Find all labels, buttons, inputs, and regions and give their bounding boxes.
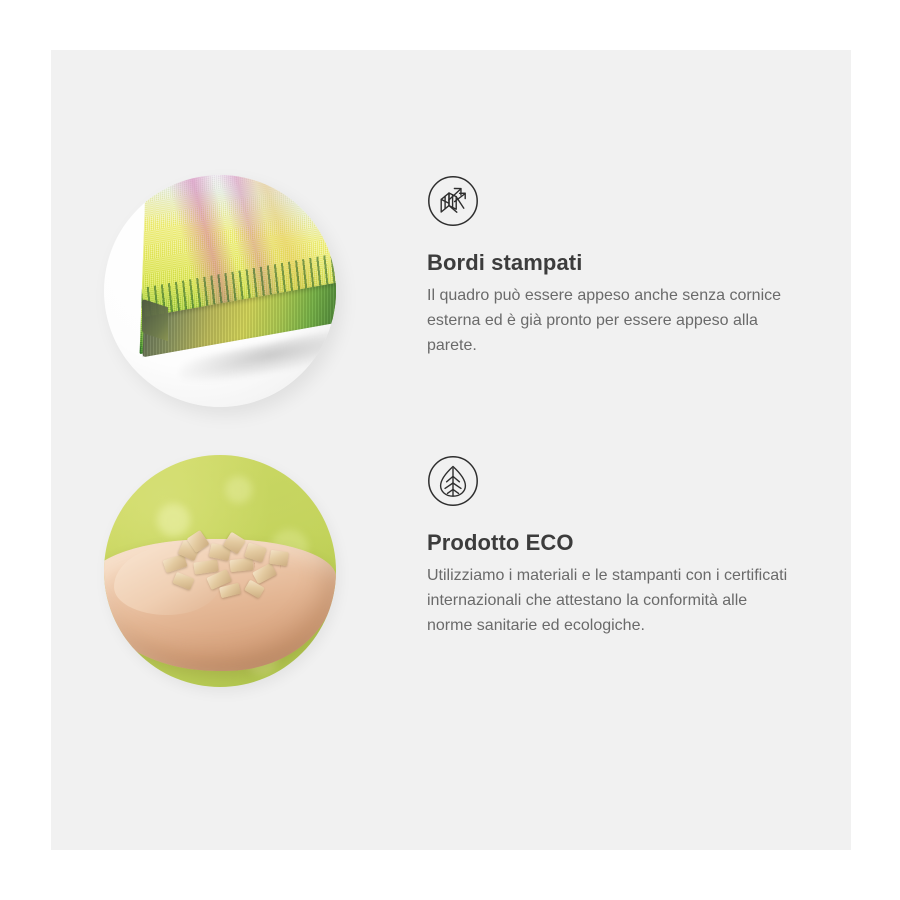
printed-edges-icon (427, 175, 479, 227)
wood-chips-pile (160, 531, 296, 601)
feature-row-eco-product: Prodotto ECO Utilizziamo i materiali e l… (51, 455, 851, 745)
feature-text-printed-edges: Bordi stampati Il quadro può essere appe… (427, 175, 819, 358)
canvas-block (146, 175, 336, 381)
product-feature-page: Bordi stampati Il quadro può essere appe… (0, 0, 900, 900)
feature-row-printed-edges: Bordi stampati Il quadro può essere appe… (51, 175, 851, 460)
canvas-photo-circle (104, 175, 336, 407)
feature-title: Bordi stampati (427, 249, 819, 277)
eco-photo-circle (104, 455, 336, 687)
wood-chips-in-hands-photo (104, 455, 336, 687)
canvas-wrapped-edge-photo (104, 175, 336, 407)
content-panel: Bordi stampati Il quadro può essere appe… (51, 50, 851, 850)
feature-title: Prodotto ECO (427, 529, 819, 557)
leaf-icon (427, 455, 479, 507)
feature-body: Utilizziamo i materiali e le stampanti c… (427, 563, 789, 638)
feature-body: Il quadro può essere appeso anche senza … (427, 283, 789, 358)
feature-text-eco-product: Prodotto ECO Utilizziamo i materiali e l… (427, 455, 819, 638)
